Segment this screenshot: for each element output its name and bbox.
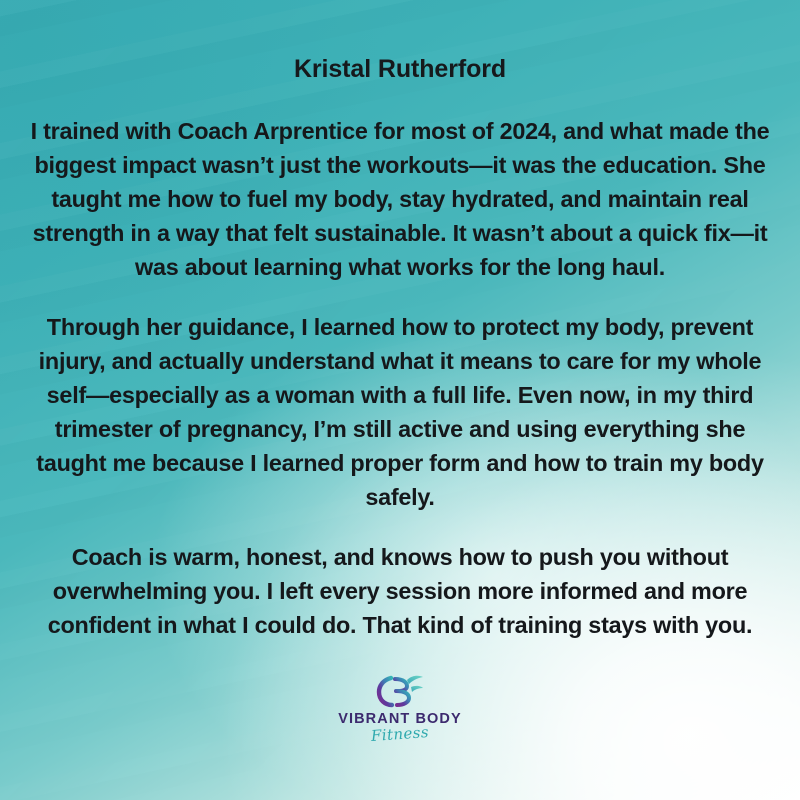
testimonial-paragraph: Coach is warm, honest, and knows how to …: [14, 540, 786, 642]
logo-script-text: Fitness: [371, 725, 430, 744]
testimonial-paragraph: I trained with Coach Arprentice for most…: [14, 114, 786, 284]
client-name: Kristal Rutherford: [294, 56, 506, 84]
card-content: Kristal Rutherford I trained with Coach …: [0, 0, 800, 800]
brand-logo: VIBRANT BODY Fitness: [0, 671, 800, 743]
testimonial-card: Kristal Rutherford I trained with Coach …: [0, 0, 800, 800]
testimonial-body: I trained with Coach Arprentice for most…: [14, 114, 786, 643]
vb-monogram-icon: [371, 671, 429, 711]
logo-wordmark: VIBRANT BODY: [338, 712, 462, 727]
testimonial-paragraph: Through her guidance, I learned how to p…: [14, 310, 786, 514]
